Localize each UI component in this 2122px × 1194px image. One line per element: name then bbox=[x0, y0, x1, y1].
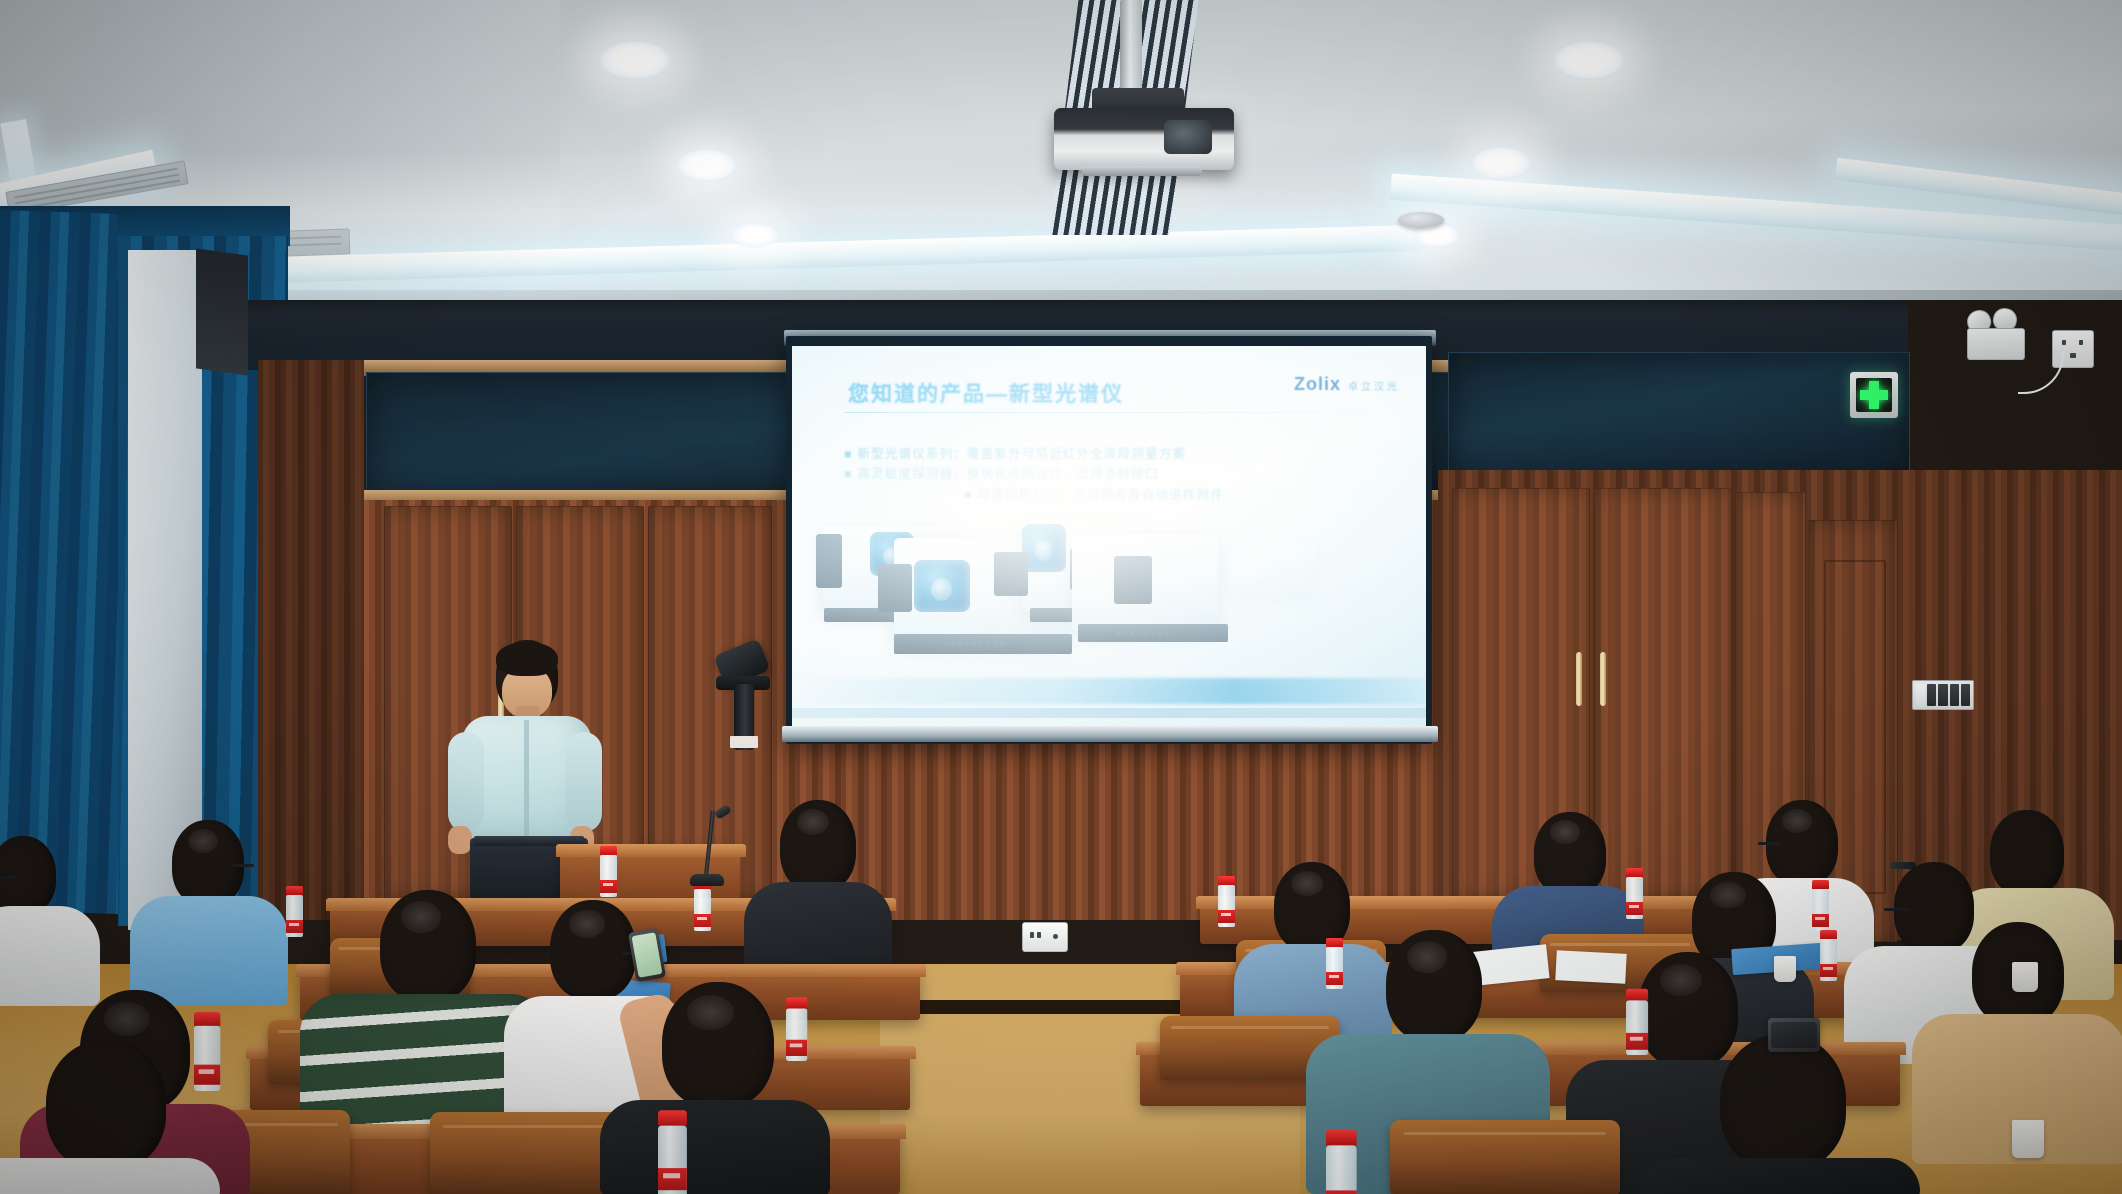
glasses bbox=[1884, 908, 1910, 911]
presenter-arm-left bbox=[448, 732, 484, 832]
slide-footer-rule bbox=[792, 708, 1426, 718]
product-side-module bbox=[816, 534, 842, 588]
conference-room-scene: 您知道的产品—新型光谱仪 Zolix 卓立汉光 ■ 新型光谱仪系列：覆盖紫外可见… bbox=[0, 0, 2122, 1194]
hair-highlight bbox=[401, 901, 441, 932]
bottle-cap bbox=[1326, 1129, 1357, 1145]
slide-title-rule bbox=[844, 412, 1374, 413]
slide-bullet: ■ 高灵敏度探测器，模块化光路设计，支持多种接口 bbox=[844, 464, 1364, 484]
bottle-cap bbox=[600, 846, 617, 855]
acoustic-panel-right bbox=[1448, 352, 1910, 482]
slide-title: 您知道的产品—新型光谱仪 bbox=[848, 378, 1124, 408]
bottle-body bbox=[194, 1026, 220, 1091]
attendee-head bbox=[1386, 930, 1482, 1042]
switch-gang[interactable] bbox=[1916, 684, 1925, 706]
bottle-cap bbox=[1626, 989, 1648, 1001]
ceiling-downlight bbox=[676, 148, 738, 182]
hair-highlight bbox=[569, 910, 605, 938]
cabinet-handle[interactable] bbox=[1600, 652, 1606, 706]
bottle-body bbox=[600, 855, 617, 897]
ceiling-projector bbox=[1046, 0, 1246, 180]
glasses bbox=[232, 864, 254, 867]
hair-highlight bbox=[104, 1002, 150, 1036]
bottle-cap bbox=[1626, 868, 1643, 877]
projector-foot bbox=[1082, 166, 1202, 176]
bottle-body bbox=[1812, 889, 1829, 931]
product-side-module bbox=[994, 552, 1028, 596]
switch-gang[interactable] bbox=[1950, 684, 1959, 706]
water-bottle[interactable] bbox=[1812, 880, 1829, 931]
smoke-detector bbox=[1398, 212, 1444, 228]
switch-gang[interactable] bbox=[1961, 684, 1970, 706]
slide-accent-swoosh bbox=[792, 678, 1426, 704]
emergency-exit-sign bbox=[1850, 372, 1898, 418]
bottle-label bbox=[1820, 964, 1837, 977]
water-bottle[interactable] bbox=[694, 880, 711, 931]
slide-logo-cn: 卓立汉光 bbox=[1348, 378, 1400, 393]
light-switch-panel[interactable] bbox=[1912, 680, 1974, 710]
slide-logo-mark: Zolix bbox=[1294, 374, 1341, 395]
attendee-cream-foreground bbox=[0, 1040, 220, 1194]
attendee-head bbox=[662, 982, 774, 1108]
bottle-cap bbox=[1820, 930, 1837, 939]
hair-highlight bbox=[1407, 941, 1447, 972]
blue-curtain-left bbox=[0, 210, 118, 914]
water-bottle[interactable] bbox=[194, 1012, 220, 1091]
attendee-dark-center bbox=[740, 800, 890, 990]
bottle-body bbox=[1626, 877, 1643, 919]
glasses bbox=[0, 876, 16, 879]
ceiling-speaker-left bbox=[196, 248, 248, 375]
water-bottle[interactable] bbox=[1326, 1129, 1357, 1194]
emergency-light-body bbox=[1967, 328, 2025, 360]
hair-highlight bbox=[797, 809, 829, 835]
bottle-label bbox=[658, 1168, 687, 1190]
mic-capsule bbox=[714, 804, 732, 820]
emergency-light bbox=[1965, 308, 2025, 360]
mic-stem bbox=[704, 810, 715, 876]
bottle-cap bbox=[1812, 880, 1829, 889]
attendee-shirt bbox=[0, 1158, 220, 1194]
product-instrument-faded bbox=[1230, 542, 1316, 594]
ceiling-downlight bbox=[730, 222, 780, 248]
power-cable bbox=[2018, 352, 2064, 394]
wall-outlet-floor-level[interactable] bbox=[1022, 922, 1068, 952]
water-bottle[interactable] bbox=[1626, 868, 1643, 919]
water-bottle[interactable] bbox=[1820, 930, 1837, 981]
bottle-label bbox=[1812, 914, 1829, 927]
outlet-slot bbox=[2079, 340, 2083, 345]
hair-highlight bbox=[687, 995, 734, 1030]
glasses bbox=[1758, 842, 1782, 845]
attendee-lightblue bbox=[128, 820, 288, 1000]
phone-screen bbox=[632, 932, 663, 978]
attendee-head bbox=[1534, 812, 1606, 896]
presenter-arm-right bbox=[566, 732, 602, 832]
product-monochromator bbox=[1022, 524, 1066, 572]
slide-product-images bbox=[816, 508, 1402, 658]
attendee-head bbox=[172, 820, 244, 906]
bottle-label bbox=[1626, 902, 1643, 915]
slide-logo: Zolix 卓立汉光 bbox=[1294, 374, 1400, 395]
wall-camera bbox=[716, 640, 770, 752]
cabinet-handle[interactable] bbox=[1576, 652, 1582, 706]
projector-lens bbox=[1164, 120, 1212, 154]
hair-highlight bbox=[1291, 871, 1323, 896]
product-side-module bbox=[878, 564, 912, 612]
attendee-head bbox=[0, 836, 56, 914]
attendee-head bbox=[780, 800, 856, 892]
mic-base bbox=[690, 874, 724, 886]
bottle-cap bbox=[658, 1110, 687, 1125]
phone-screen bbox=[1771, 1022, 1817, 1048]
hair-highlight bbox=[1660, 964, 1702, 996]
chair[interactable] bbox=[1390, 1120, 1620, 1194]
ceiling-downlight bbox=[598, 40, 672, 80]
smartphone[interactable] bbox=[1768, 1018, 1820, 1052]
ceiling-downlight bbox=[1470, 146, 1532, 180]
outlet-slot bbox=[1030, 932, 1034, 938]
water-bottle[interactable] bbox=[658, 1110, 687, 1194]
slide-bullet: ■ 可选配积分球、光纤耦合及自动进样附件 bbox=[844, 485, 1364, 505]
slide-bullet-list: ■ 新型光谱仪系列：覆盖紫外可见近红外全波段测量方案 ■ 高灵敏度探测器，模块化… bbox=[844, 444, 1364, 505]
presenter-shirt-placket bbox=[524, 720, 529, 840]
outlet-slot bbox=[2062, 340, 2066, 345]
hair-highlight bbox=[1550, 820, 1580, 844]
paper-cup[interactable] bbox=[2012, 962, 2038, 992]
product-door bbox=[1114, 556, 1152, 604]
product-base-label bbox=[944, 639, 1006, 646]
presenter-hair bbox=[496, 642, 558, 676]
attendee-shirt bbox=[600, 1100, 830, 1194]
hair-highlight bbox=[1710, 882, 1745, 909]
attendee-head bbox=[380, 890, 476, 1002]
outlet-slot bbox=[1037, 932, 1041, 938]
bottle-label bbox=[600, 880, 617, 893]
screen-bottom-weight-bar bbox=[782, 726, 1438, 742]
camera-label-tag bbox=[730, 736, 758, 748]
ceiling-downlight bbox=[1552, 40, 1626, 80]
projection-screen: 您知道的产品—新型光谱仪 Zolix 卓立汉光 ■ 新型光谱仪系列：覆盖紫外可见… bbox=[792, 346, 1426, 726]
hair-highlight bbox=[188, 829, 218, 853]
attendee-shirt bbox=[1640, 1158, 1920, 1194]
switch-gang[interactable] bbox=[1938, 684, 1947, 706]
hair-highlight bbox=[1782, 809, 1812, 833]
bottle-label bbox=[194, 1065, 220, 1085]
attendee-dark-foreground-right bbox=[1640, 1034, 1920, 1194]
slide-bullet: ■ 新型光谱仪系列：覆盖紫外可见近红外全波段测量方案 bbox=[844, 444, 1364, 464]
product-base-label bbox=[1116, 628, 1174, 635]
bottle-body bbox=[1326, 1145, 1357, 1194]
bottle-label bbox=[1326, 1190, 1357, 1194]
product-monochromator bbox=[914, 560, 970, 612]
bottle-body bbox=[658, 1126, 687, 1194]
attendee-black-foreground bbox=[600, 982, 830, 1194]
presenter-hand-left bbox=[448, 826, 472, 854]
water-bottle[interactable] bbox=[600, 846, 617, 897]
exit-sign-face bbox=[1856, 378, 1892, 412]
exit-cross-icon bbox=[1860, 390, 1888, 400]
attendee-head bbox=[46, 1040, 166, 1170]
attendee-head bbox=[1720, 1034, 1846, 1170]
switch-gang[interactable] bbox=[1927, 684, 1936, 706]
gooseneck-microphone[interactable] bbox=[690, 806, 730, 886]
bottle-body bbox=[1820, 939, 1837, 981]
bottle-body bbox=[694, 889, 711, 931]
bottle-cap bbox=[194, 1012, 220, 1026]
outlet-slot bbox=[2070, 353, 2076, 358]
bottle-label bbox=[694, 914, 711, 927]
paper-cup[interactable] bbox=[2012, 1120, 2044, 1158]
outlet-slot bbox=[1053, 934, 1058, 939]
attendee-white-left bbox=[0, 836, 100, 996]
